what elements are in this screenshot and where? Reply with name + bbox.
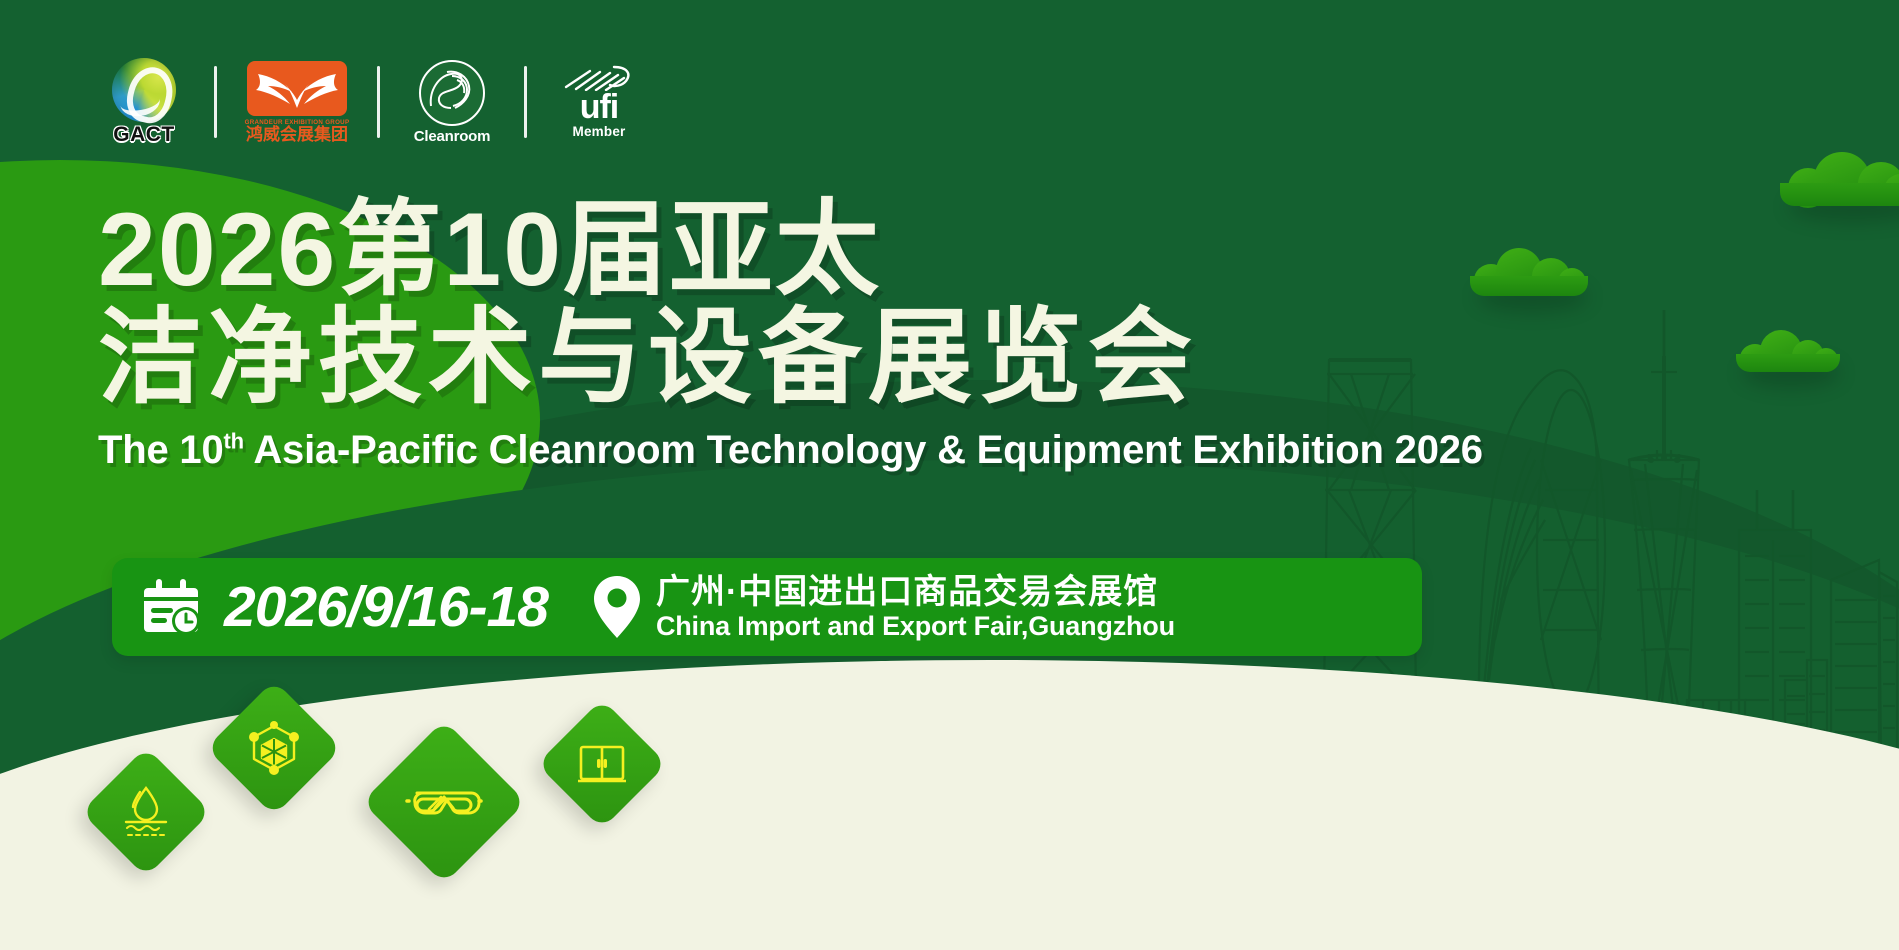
logo-divider: [377, 66, 380, 138]
ufi-wordmark: ufi: [580, 93, 619, 122]
logo-row: GACT GRANDEUR EXHIBITION GROUP 鸿威会展集团: [98, 56, 647, 148]
grandeur-wings-icon: [247, 61, 347, 116]
event-date: 2026/9/16-18: [224, 574, 548, 640]
safety-goggles-icon: [405, 763, 483, 841]
ufi-member-label: Member: [573, 124, 626, 139]
ufi-swoosh-icon: [564, 65, 634, 91]
venue-chinese: 广州·中国进出口商品交易会展馆: [656, 573, 1175, 611]
water-droplet-icon: [116, 782, 176, 842]
gact-sphere-icon: [112, 58, 176, 122]
cleanroom-label: Cleanroom: [414, 128, 491, 145]
date-venue-bar: 2026/9/16-18 广州·中国进出口商品交易会展馆 China Impor…: [112, 558, 1422, 656]
logo-divider: [524, 66, 527, 138]
title-chinese-line1: 2026第10届亚太: [98, 196, 1418, 304]
title-block: 2026第10届亚太 洁净技术与设备展览会 The 10th Asia-Paci…: [98, 196, 1418, 473]
location-pin-icon: [592, 574, 642, 640]
wings-glyph: [254, 66, 340, 110]
gact-logo: GACT: [98, 56, 190, 148]
feature-icon-cube-node: [206, 680, 342, 816]
pass-box-cabinet-icon: [573, 735, 631, 793]
ufi-member-logo: ufi Member: [551, 56, 647, 148]
cloud-shape: [1780, 152, 1899, 206]
feature-icon-pass-box: [537, 699, 667, 829]
venue-english: China Import and Export Fair,Guangzhou: [656, 611, 1175, 641]
title-english-rest: Asia-Pacific Cleanroom Technology & Equi…: [244, 428, 1483, 472]
gact-logo-label: GACT: [113, 123, 175, 147]
cloud-shape: [1736, 330, 1840, 372]
venue-group: 广州·中国进出口商品交易会展馆 China Import and Export …: [592, 573, 1175, 641]
exhibition-banner: GACT GRANDEUR EXHIBITION GROUP 鸿威会展集团: [0, 0, 1899, 950]
date-group: 2026/9/16-18: [142, 574, 548, 640]
feature-icon-water-droplet: [81, 747, 211, 877]
cloud-shape: [1470, 248, 1588, 296]
grandeur-exhibition-group-logo: GRANDEUR EXHIBITION GROUP 鸿威会展集团: [241, 56, 353, 148]
title-chinese-line2: 洁净技术与设备展览会: [98, 304, 1418, 412]
logo-divider: [214, 66, 217, 138]
title-english: The 10th Asia-Pacific Cleanroom Technolo…: [98, 428, 1418, 473]
cleanroom-glyph: [421, 62, 479, 120]
cube-node-icon: [243, 717, 305, 779]
feature-icon-goggles: [362, 720, 526, 884]
calendar-clock-icon: [142, 576, 204, 638]
title-english-prefix: The 10: [98, 428, 224, 472]
venue-lines: 广州·中国进出口商品交易会展馆 China Import and Export …: [656, 573, 1175, 641]
cleanroom-logo: Cleanroom: [404, 56, 500, 148]
title-english-ordinal: th: [224, 429, 244, 454]
cleanroom-swoosh-icon: [419, 60, 485, 126]
grandeur-chinese-label: 鸿威会展集团: [246, 126, 348, 144]
